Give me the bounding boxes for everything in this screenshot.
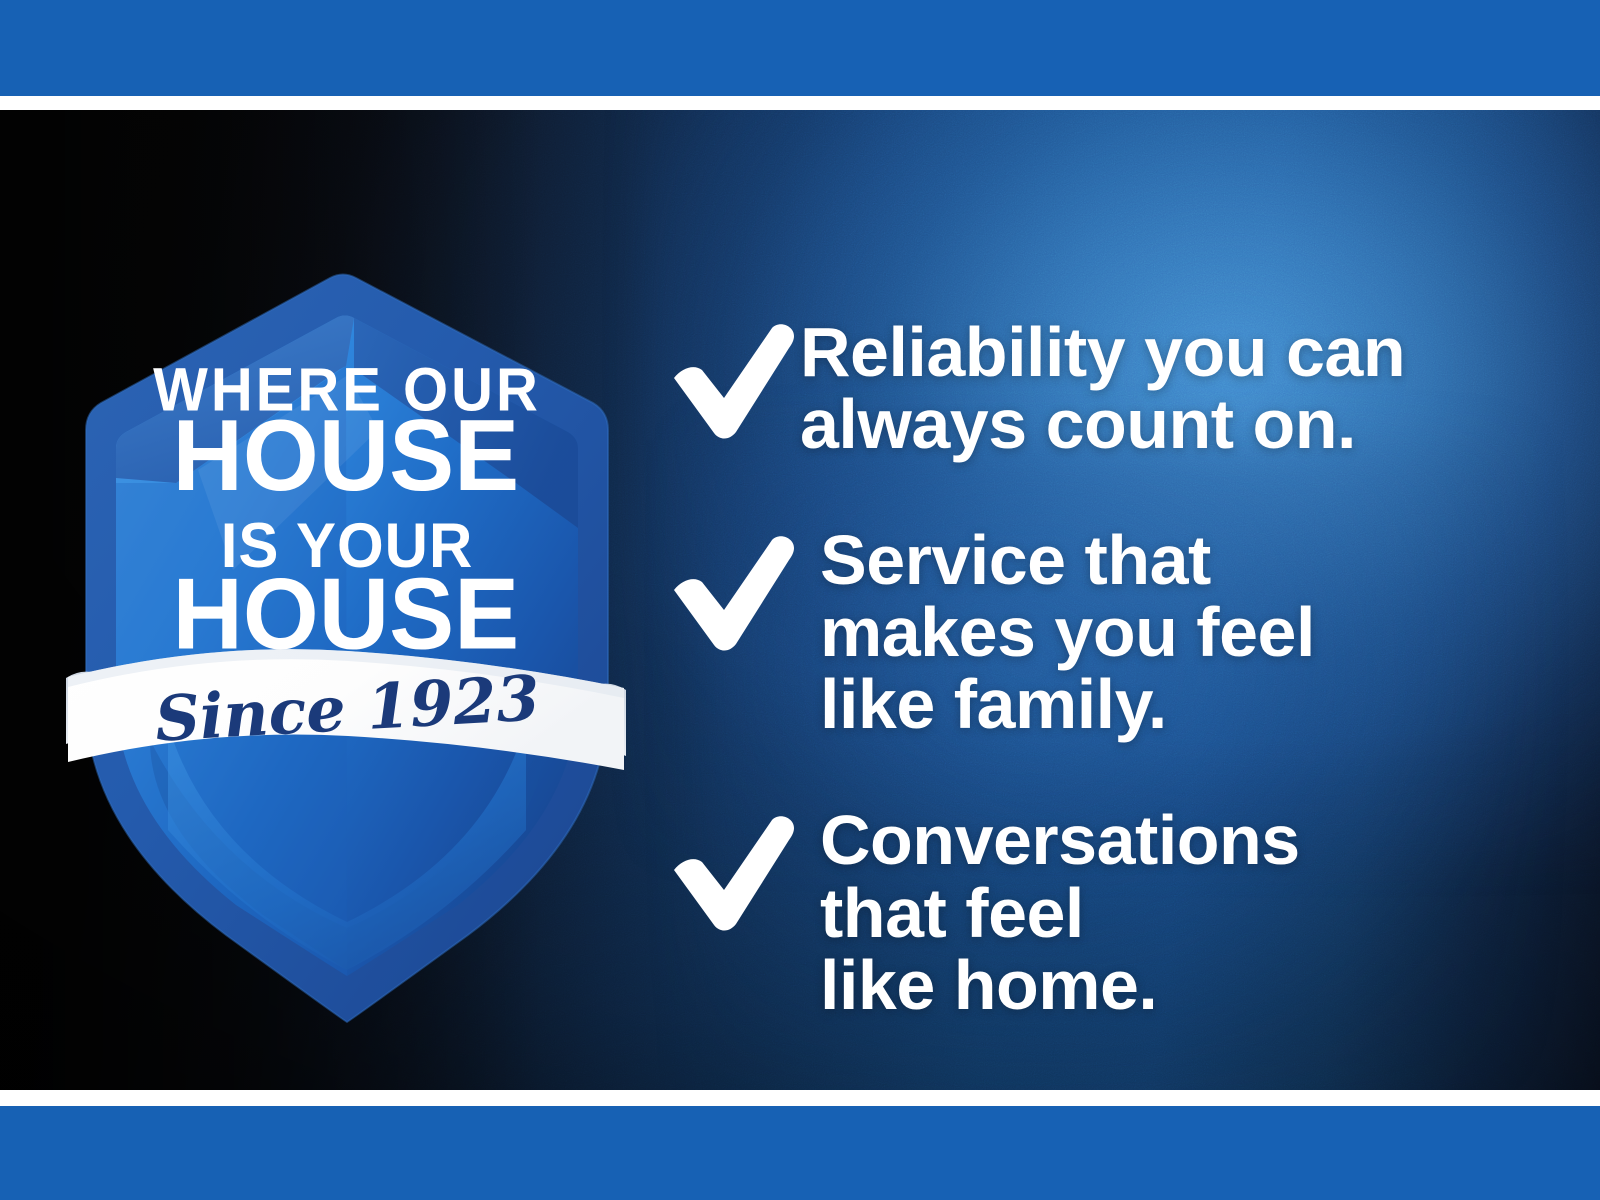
benefit-item: Service that makes you feel like family.: [668, 522, 1548, 740]
benefit-text: Conversations that feel like home.: [800, 802, 1548, 1020]
benefit-text: Service that makes you feel like family.: [800, 522, 1548, 740]
benefit-item: Conversations that feel like home.: [668, 802, 1548, 1020]
benefit-text: Reliability you can always count on.: [800, 310, 1548, 460]
benefits-list: Reliability you can always count on. Ser…: [668, 310, 1548, 1021]
bottom-brand-bar: [0, 1106, 1600, 1200]
benefit-item: Reliability you can always count on.: [668, 310, 1548, 460]
poster-stage: WHERE OUR HOUSE IS YOUR HOUSE Since 1923: [0, 110, 1600, 1090]
shield-logo: WHERE OUR HOUSE IS YOUR HOUSE Since 1923: [48, 270, 638, 950]
checkmark-icon: [668, 812, 800, 934]
shield-line-2: HOUSE: [172, 399, 519, 512]
top-brand-bar: [0, 0, 1600, 96]
checkmark-icon: [668, 320, 800, 442]
promo-poster: WHERE OUR HOUSE IS YOUR HOUSE Since 1923: [0, 0, 1600, 1200]
checkmark-icon: [668, 532, 800, 654]
